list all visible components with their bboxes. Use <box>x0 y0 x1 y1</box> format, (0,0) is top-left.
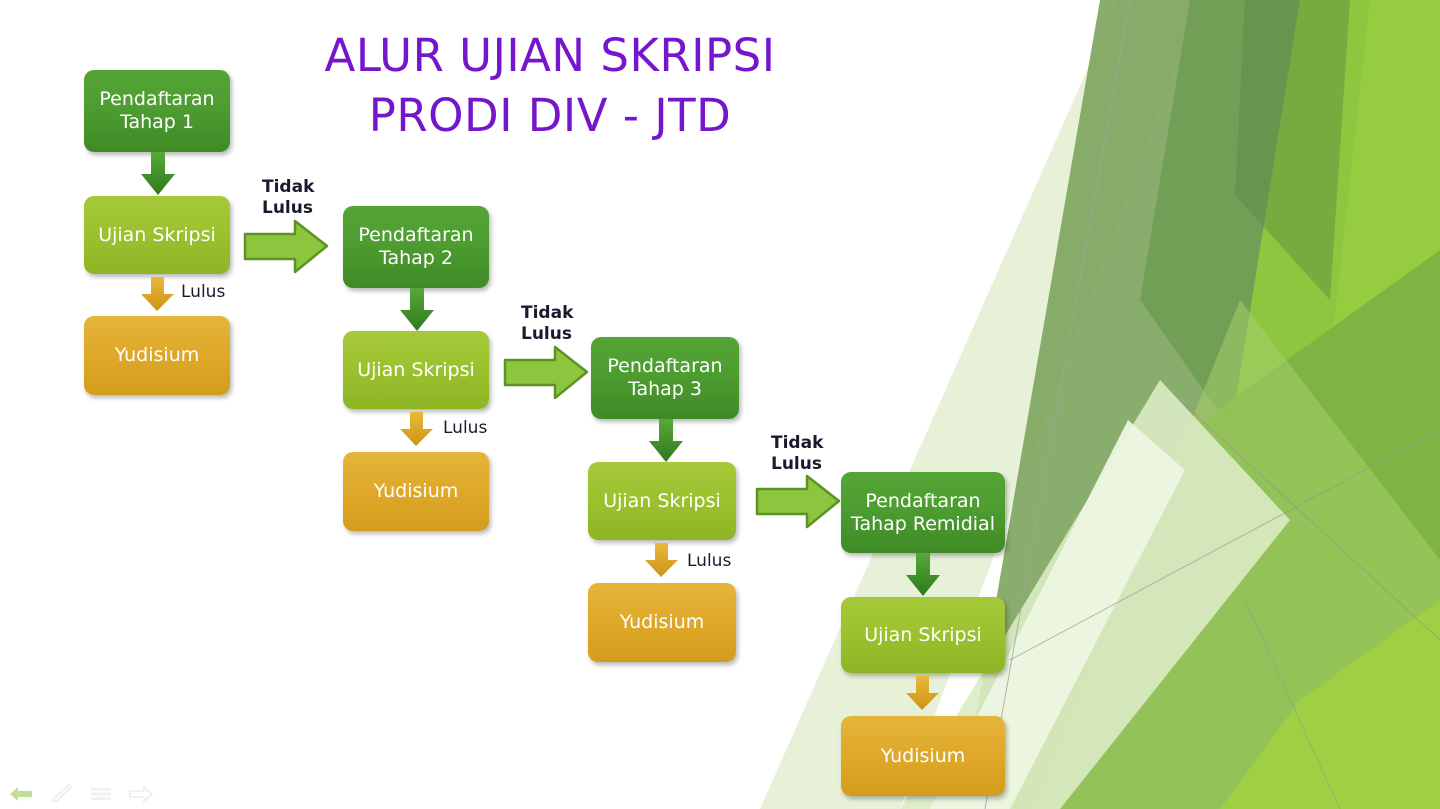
arrow-down-gold-1 <box>141 277 175 312</box>
bg-hairline-3 <box>1010 430 1440 660</box>
box-yudisium-3[interactable]: Yudisium <box>588 583 736 662</box>
arrow-down-green-2 <box>399 288 435 332</box>
bg-hairline-2 <box>1185 405 1440 640</box>
page-title: ALUR UJIAN SKRIPSI PRODI DIV - JTD <box>230 26 870 146</box>
label-tidak-lulus-3: Tidak Lulus <box>771 433 823 475</box>
box-pendaftaran-tahap-3[interactable]: Pendaftaran Tahap 3 <box>591 337 739 419</box>
box-ujian-skripsi-3[interactable]: Ujian Skripsi <box>588 462 736 540</box>
label-tidak-lulus-2: Tidak Lulus <box>521 303 573 345</box>
box-pendaftaran-tahap-2[interactable]: Pendaftaran Tahap 2 <box>343 206 489 288</box>
arrow-down-gold-2 <box>400 412 434 447</box>
pen-tool-button[interactable] <box>48 783 74 805</box>
previous-slide-button[interactable] <box>8 783 34 805</box>
next-slide-button[interactable] <box>128 783 154 805</box>
bg-facet-sage-dark <box>1140 0 1330 470</box>
arrow-right-green-1 <box>243 218 329 276</box>
arrow-right-icon <box>129 785 153 803</box>
box-pendaftaran-tahap-remidial[interactable]: Pendaftaran Tahap Remidial <box>841 472 1005 553</box>
box-ujian-skripsi-2[interactable]: Ujian Skripsi <box>343 331 489 409</box>
arrow-down-green-1 <box>140 152 176 196</box>
box-yudisium-4[interactable]: Yudisium <box>841 716 1005 796</box>
presenter-nav-controls <box>8 783 154 805</box>
pen-icon <box>50 784 72 804</box>
box-ujian-skripsi-1[interactable]: Ujian Skripsi <box>84 196 230 274</box>
menu-icon <box>89 785 113 803</box>
label-lulus-2: Lulus <box>443 418 487 439</box>
arrow-left-icon <box>9 785 33 803</box>
arrow-down-gold-3 <box>645 543 679 578</box>
arrow-right-green-3 <box>755 473 841 531</box>
presentation-slide: ALUR UJIAN SKRIPSI PRODI DIV - JTD Penda… <box>0 0 1440 809</box>
slide-menu-button[interactable] <box>88 783 114 805</box>
box-pendaftaran-tahap-1[interactable]: Pendaftaran Tahap 1 <box>84 70 230 152</box>
arrow-down-green-3 <box>648 419 684 463</box>
bg-facet-bright-2 <box>1280 0 1440 809</box>
label-lulus-1: Lulus <box>181 282 225 303</box>
bg-facet-mid-green <box>980 250 1440 809</box>
label-tidak-lulus-1: Tidak Lulus <box>262 177 314 219</box>
label-lulus-3: Lulus <box>687 551 731 572</box>
box-ujian-skripsi-4[interactable]: Ujian Skripsi <box>841 597 1005 673</box>
arrow-down-gold-4 <box>906 676 940 711</box>
bg-facet-pale-sweep <box>1035 300 1440 809</box>
bg-facet-sage <box>960 0 1330 809</box>
bg-facet-bright <box>1170 0 1440 809</box>
box-yudisium-1[interactable]: Yudisium <box>84 316 230 395</box>
arrow-right-green-2 <box>503 344 589 402</box>
bg-hairline-4 <box>1245 600 1340 809</box>
bg-facet-accent-dark <box>1235 0 1350 300</box>
bg-hairline-1 <box>985 0 1130 809</box>
bg-facet-bright-lower <box>1220 600 1440 809</box>
box-yudisium-2[interactable]: Yudisium <box>343 452 489 531</box>
arrow-down-green-4 <box>905 553 941 597</box>
